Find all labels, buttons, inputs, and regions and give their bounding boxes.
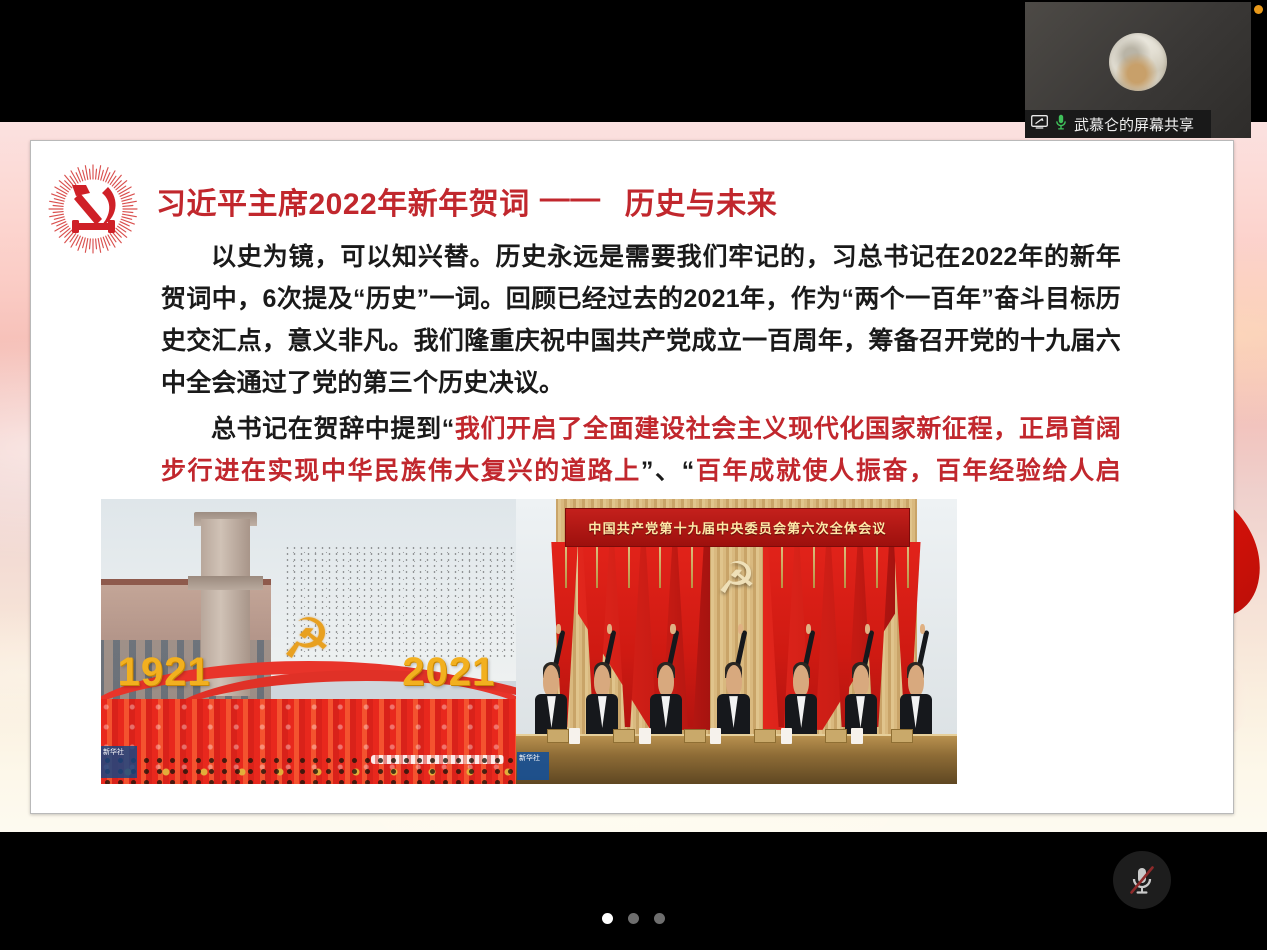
- page-title-sub: 历史与未来: [611, 188, 778, 221]
- slide-content-card: 习近平主席2022年新年贺词——历史与未来 以史为镜，可以知兴替。历史永远是需要…: [30, 140, 1234, 814]
- photo-watermark: 新华社: [517, 752, 549, 780]
- name-plate: [684, 729, 706, 742]
- tea-cup: [639, 728, 650, 744]
- name-plate: [754, 729, 776, 742]
- screen-share-thumbnail-tile[interactable]: 武慕仑的屏幕共享: [1025, 2, 1251, 138]
- tea-cup: [851, 728, 862, 744]
- tea-cup: [569, 728, 580, 744]
- p2-seg-0: 总书记在贺辞中提到“: [211, 415, 454, 443]
- share-label-text: 武慕仑的屏幕共享: [1074, 114, 1194, 135]
- tea-cup: [710, 728, 721, 744]
- p1-seg-0: 以史为镜，可以知兴替。历史永远是需要我们牢记的，习总书记在2022年的新年贺词中…: [161, 243, 1121, 397]
- photo-tiananmen-centenary: ☭ 1921 2021 新华社: [101, 499, 516, 784]
- p2-seg-2: ”、“: [641, 457, 695, 485]
- name-plate: [613, 729, 635, 742]
- slide-body-text: 以史为镜，可以知兴替。历史永远是需要我们牢记的，习总书记在2022年的新年贺词中…: [161, 236, 1121, 538]
- bottom-letterbox-bar: [0, 832, 1267, 950]
- monument-base: [188, 576, 263, 590]
- party-emblem-wall-icon: ☭: [710, 547, 763, 610]
- meeting-screen-share-window: 习近平主席2022年新年贺词——历史与未来 以史为镜，可以知兴替。历史永远是需要…: [0, 0, 1267, 950]
- pager-dot-1[interactable]: [602, 913, 613, 924]
- pager-dot-3[interactable]: [654, 913, 665, 924]
- ccp-hammer-sickle-emblem-icon: [44, 163, 142, 255]
- shared-slide-stage: 习近平主席2022年新年贺词——历史与未来 以史为镜，可以知兴替。历史永远是需要…: [0, 122, 1267, 832]
- microphone-muted-icon: [1127, 864, 1157, 896]
- year-label-1921: 1921: [118, 650, 211, 695]
- slide-photo-strip: ☭ 1921 2021 新华社: [101, 499, 957, 784]
- marching-band: [101, 755, 516, 784]
- name-plate: [891, 729, 913, 742]
- tea-cup: [781, 728, 792, 744]
- pager-dot-2[interactable]: [628, 913, 639, 924]
- screen-share-icon: [1031, 115, 1048, 134]
- page-title-dash: ——: [530, 182, 611, 216]
- page-title-main: 习近平主席2022年新年贺词: [156, 188, 530, 221]
- microphone-muted-button[interactable]: [1113, 851, 1171, 909]
- share-label-bar: 武慕仑的屏幕共享: [1025, 110, 1211, 138]
- photo-watermark: 新华社: [101, 746, 137, 778]
- status-indicator-dot: [1254, 5, 1263, 14]
- name-plate: [547, 729, 569, 742]
- year-label-2021: 2021: [402, 650, 495, 695]
- paragraph-1: 以史为镜，可以知兴替。历史永远是需要我们牢记的，习总书记在2022年的新年贺词中…: [161, 236, 1121, 404]
- participant-avatar: [1109, 33, 1167, 91]
- conference-banner: 中国共产党第十九届中央委员会第六次全体会议: [565, 508, 911, 547]
- name-plate: [825, 729, 847, 742]
- photo-sixth-plenary-session: ☭ 中国共产党第十九届中央委员会第六次全体会议: [516, 499, 957, 784]
- crowd-red-flowers: [101, 699, 516, 785]
- microphone-icon: [1055, 114, 1067, 135]
- delegates-row: [525, 659, 948, 739]
- page-title: 习近平主席2022年新年贺词——历史与未来: [156, 179, 777, 223]
- slide-pager[interactable]: [0, 913, 1267, 924]
